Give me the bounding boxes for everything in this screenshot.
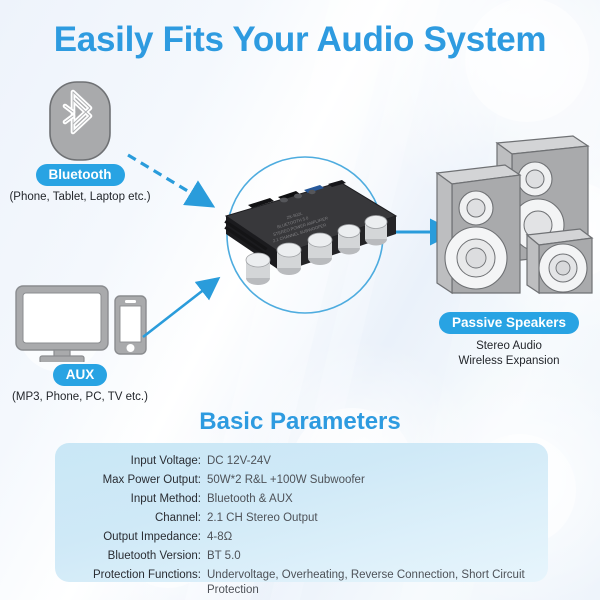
table-row: Channel: 2.1 CH Stereo Output: [55, 509, 548, 528]
bluetooth-icon-wrap: [0, 78, 160, 164]
param-value: 2.1 CH Stereo Output: [206, 509, 548, 528]
knob: [277, 243, 301, 275]
basic-parameters-heading: Basic Parameters: [0, 408, 600, 436]
bluetooth-source-block: Bluetooth (Phone, Tablet, Laptop etc.): [0, 78, 160, 203]
table-row: Input Method: Bluetooth & AUX: [55, 490, 548, 509]
param-value: 4-8Ω: [206, 528, 548, 547]
passive-speakers-label-block: Passive Speakers Stereo Audio Wireless E…: [418, 312, 600, 369]
param-label: Max Power Output:: [55, 471, 206, 490]
param-value: BT 5.0: [206, 547, 548, 566]
param-label: Input Voltage:: [55, 452, 206, 471]
table-row: Protection Functions: Undervoltage, Over…: [55, 566, 548, 600]
basic-parameters-panel: Input Voltage: DC 12V-24V Max Power Outp…: [55, 443, 548, 582]
param-value: Bluetooth & AUX: [206, 490, 548, 509]
speaker-box: [437, 165, 520, 293]
passive-speakers-illustration: [425, 133, 600, 308]
aux-caption: (MP3, Phone, PC, TV etc.): [0, 391, 160, 403]
monitor-and-phone-icon: [13, 282, 148, 362]
page-title: Easily Fits Your Audio System: [0, 20, 600, 60]
speaker-group: [425, 133, 600, 308]
aux-label: AUX: [53, 364, 108, 386]
table-row: Input Voltage: DC 12V-24V: [55, 452, 548, 471]
knob: [308, 233, 332, 265]
infographic-canvas: Easily Fits Your Audio System Bluetooth …: [0, 0, 600, 600]
parameters-table-body: Input Voltage: DC 12V-24V Max Power Outp…: [55, 452, 548, 600]
knob: [365, 216, 387, 246]
table-row: Output Impedance: 4-8Ω: [55, 528, 548, 547]
param-value: Undervoltage, Overheating, Reverse Conne…: [206, 566, 548, 600]
param-label: Protection Functions:: [55, 566, 206, 600]
table-row: Bluetooth Version: BT 5.0: [55, 547, 548, 566]
speaker-box: [527, 229, 592, 293]
knob: [246, 253, 270, 285]
bluetooth-label: Bluetooth: [36, 164, 125, 186]
param-value: DC 12V-24V: [206, 452, 548, 471]
param-label: Output Impedance:: [55, 528, 206, 547]
passive-speakers-label: Passive Speakers: [439, 312, 579, 334]
passive-speakers-caption-line1: Stereo Audio: [418, 339, 600, 354]
param-label: Channel:: [55, 509, 206, 528]
bluetooth-caption: (Phone, Tablet, Laptop etc.): [0, 191, 160, 203]
bluetooth-icon: [43, 78, 117, 164]
aux-icon-wrap: [0, 282, 160, 364]
aux-source-block: AUX (MP3, Phone, PC, TV etc.): [0, 282, 160, 403]
passive-speakers-caption-line2: Wireless Expansion: [418, 354, 600, 369]
table-row: Max Power Output: 50W*2 R&L +100W Subwoo…: [55, 471, 548, 490]
amplifier-board: ZK-502L BLUETOOTH 5.0 STEREO POWER AMPLI…: [212, 160, 402, 315]
parameters-table: Input Voltage: DC 12V-24V Max Power Outp…: [55, 452, 548, 600]
amplifier-board-illustration: ZK-502L BLUETOOTH 5.0 STEREO POWER AMPLI…: [212, 160, 402, 315]
param-value: 50W*2 R&L +100W Subwoofer: [206, 471, 548, 490]
param-label: Input Method:: [55, 490, 206, 509]
param-label: Bluetooth Version:: [55, 547, 206, 566]
knob: [338, 225, 360, 255]
